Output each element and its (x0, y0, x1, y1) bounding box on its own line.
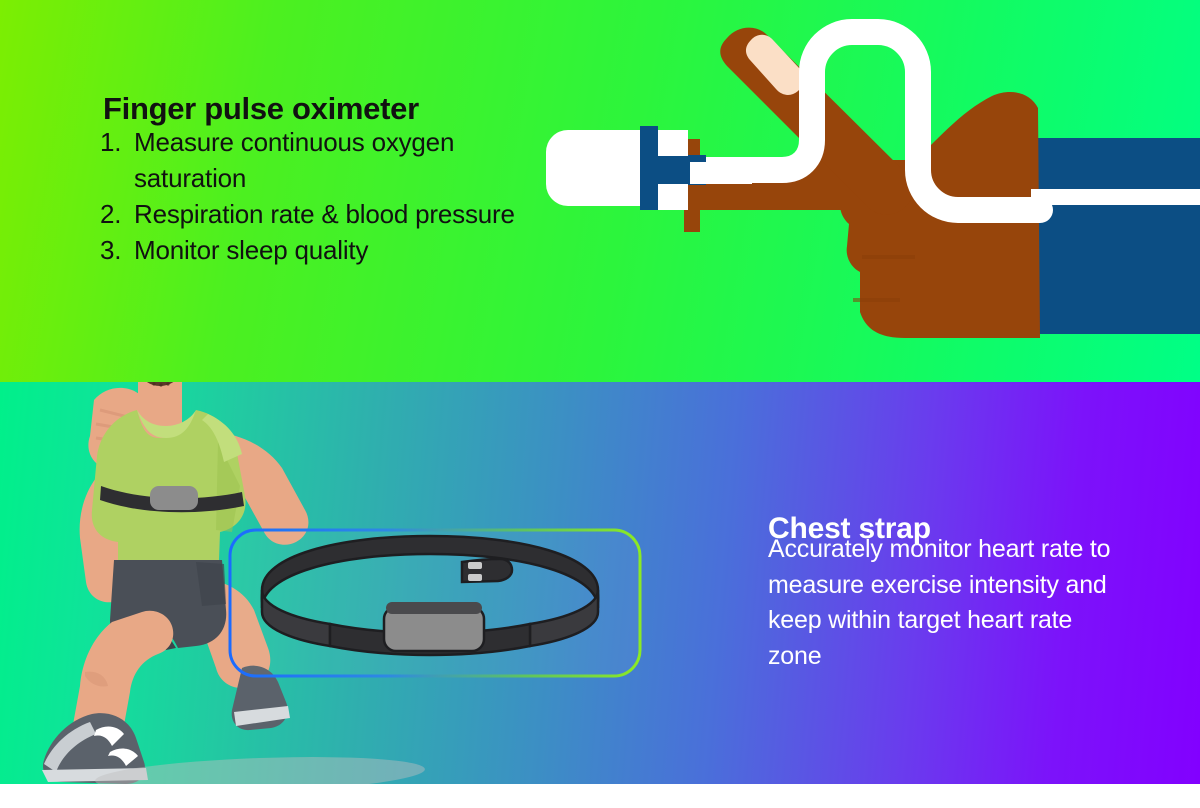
list-item-label: Respiration rate & blood pressure (134, 196, 520, 232)
top-panel-feature-list: 1. Measure continuous oxygen saturation … (100, 124, 520, 268)
top-panel-finger-pulse-oximeter: Finger pulse oximeter 1. Measure continu… (0, 0, 1200, 382)
list-item: 1. Measure continuous oxygen saturation (100, 124, 520, 196)
infographic-canvas: Finger pulse oximeter 1. Measure continu… (0, 0, 1200, 808)
top-panel-title: Finger pulse oximeter (103, 91, 419, 127)
list-item: 3. Monitor sleep quality (100, 232, 520, 268)
list-item-label: Monitor sleep quality (134, 232, 520, 268)
oximeter-clip-lower-gap (658, 184, 688, 210)
oximeter-clip-upper-gap (658, 130, 688, 156)
oximeter-cable-stub (690, 162, 752, 184)
bottom-panel-chest-strap: Chest strap Accurately monitor heart rat… (0, 382, 1200, 784)
worn-chest-strap-sensor (150, 486, 198, 510)
list-item-label: Measure continuous oxygen saturation (134, 124, 520, 196)
bottom-panel-body: Accurately monitor heart rate to measure… (768, 532, 1113, 674)
list-item-number: 2. (100, 196, 134, 232)
list-item-number: 3. (100, 232, 134, 268)
floor-white-strip (0, 784, 1200, 808)
list-item: 2. Respiration rate & blood pressure (100, 196, 520, 232)
list-item-number: 1. (100, 124, 134, 196)
sleeve-shape (1031, 138, 1200, 334)
